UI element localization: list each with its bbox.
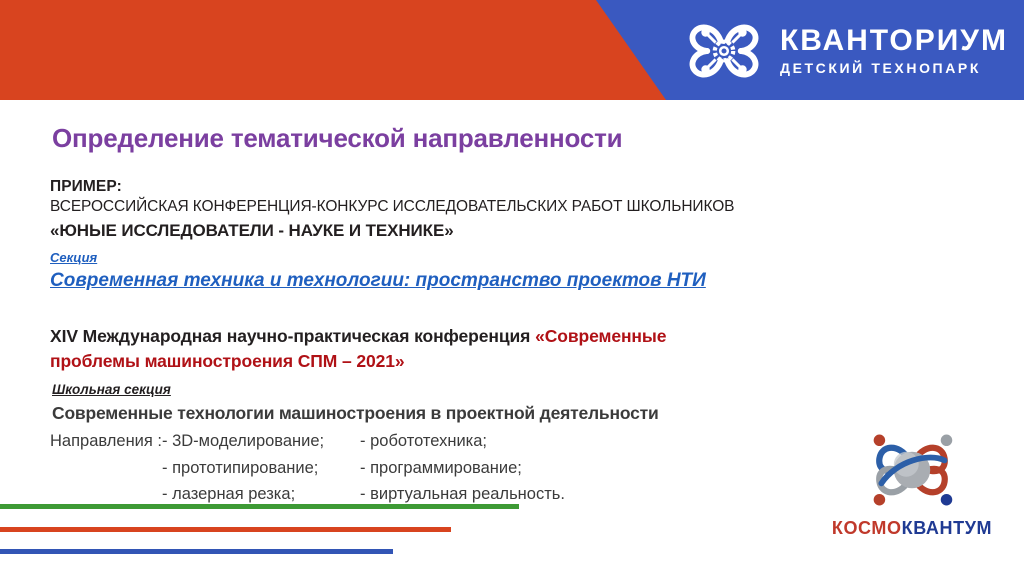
direction-cell: - прототипирование;: [162, 455, 360, 482]
footer-rule-green: [0, 504, 519, 509]
direction-cell: - 3D-моделирование;: [162, 428, 360, 455]
kosmokvantum-atom-planet-icon: [854, 424, 970, 516]
footer-rule-blue: [0, 549, 393, 554]
example-label: ПРИМЕР:: [50, 177, 880, 197]
kosmokvantum-logo-text: КОСМОКВАНТУМ: [814, 518, 1010, 539]
kvantorium-brand-tagline: ДЕТСКИЙ ТЕХНОПАРК: [780, 61, 1008, 76]
footer-rule-orange: [0, 527, 451, 532]
school-section-title: Современные технологии машиностроения в …: [52, 402, 912, 426]
kvantorium-quatrefoil-icon: [682, 9, 766, 93]
conference-heading-black: XIV Международная научно-практическая ко…: [50, 326, 535, 346]
school-section-block: Школьная секция Современные технологии м…: [52, 381, 912, 426]
example-conference-name: «ЮНЫЕ ИССЛЕДОВАТЕЛИ - НАУКЕ И ТЕХНИКЕ»: [50, 219, 880, 243]
kosmokvantum-word-kosmo: КОСМО: [832, 518, 902, 538]
example-section-title: Современная техника и технологии: простр…: [50, 268, 880, 294]
conference-heading-red-part1: «Современные: [535, 326, 666, 346]
kvantorium-logo-text: КВАНТОРИУМ ДЕТСКИЙ ТЕХНОПАРК: [780, 26, 1008, 77]
kvantorium-brand-name: КВАНТОРИУМ: [780, 26, 1008, 57]
directions-table: Направления : - 3D-моделирование; - робо…: [50, 428, 565, 508]
header-orange-panel: [0, 0, 680, 100]
table-row: Направления : - 3D-моделирование; - робо…: [50, 428, 565, 455]
page-title: Определение тематической направленности: [52, 123, 622, 154]
slide-header-banner: КВАНТОРИУМ ДЕТСКИЙ ТЕХНОПАРК: [0, 0, 1024, 100]
example-conference-line: ВСЕРОССИЙСКАЯ КОНФЕРЕНЦИЯ-КОНКУРС ИССЛЕД…: [50, 197, 880, 217]
directions-block: Направления : - 3D-моделирование; - робо…: [50, 428, 565, 508]
conference-block: XIV Международная научно-практическая ко…: [50, 324, 910, 374]
table-row: - прототипирование; - программирование;: [50, 455, 565, 482]
school-section-kicker: Школьная секция: [52, 382, 171, 397]
direction-cell: - робототехника;: [360, 428, 565, 455]
example-section-kicker: Секция: [50, 250, 97, 265]
directions-lead: Направления :: [50, 428, 162, 455]
kvantorium-logo: КВАНТОРИУМ ДЕТСКИЙ ТЕХНОПАРК: [682, 8, 1018, 94]
directions-lead-spacer: [50, 455, 162, 482]
example-block: ПРИМЕР: ВСЕРОССИЙСКАЯ КОНФЕРЕНЦИЯ-КОНКУР…: [50, 177, 880, 294]
example-section-group: Секция Современная техника и технологии:…: [50, 243, 880, 294]
kosmokvantum-logo: КОСМОКВАНТУМ: [814, 424, 1010, 548]
conference-heading-line-1: XIV Международная научно-практическая ко…: [50, 324, 910, 349]
direction-cell: - программирование;: [360, 455, 565, 482]
kosmokvantum-word-kvantum: КВАНТУМ: [902, 518, 992, 538]
conference-heading-red-part2: проблемы машиностроения СПМ – 2021»: [50, 349, 910, 374]
